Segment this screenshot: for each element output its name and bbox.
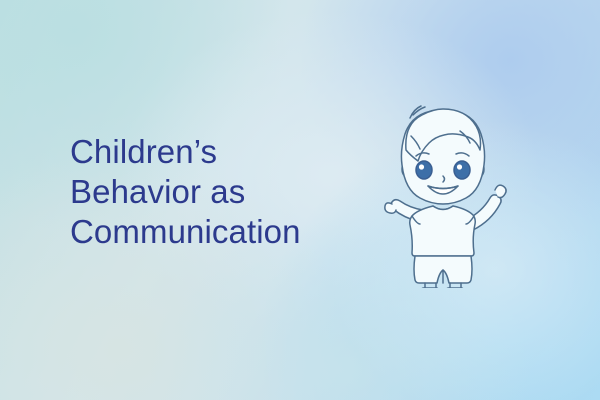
- happy-child-illustration: [358, 88, 528, 288]
- left-eye-highlight: [419, 164, 424, 169]
- right-eye-highlight: [457, 164, 462, 169]
- page-title: Children’s Behavior as Communication: [70, 132, 360, 252]
- page-title-line-3: Communication: [70, 212, 360, 252]
- left-eye-icon: [416, 161, 432, 179]
- page-title-line-2: Behavior as: [70, 172, 360, 212]
- right-eye-icon: [454, 161, 470, 179]
- tshirt-shape: [410, 206, 476, 256]
- title-card: Children’s Behavior as Communication: [0, 0, 600, 400]
- page-title-line-1: Children’s: [70, 132, 360, 172]
